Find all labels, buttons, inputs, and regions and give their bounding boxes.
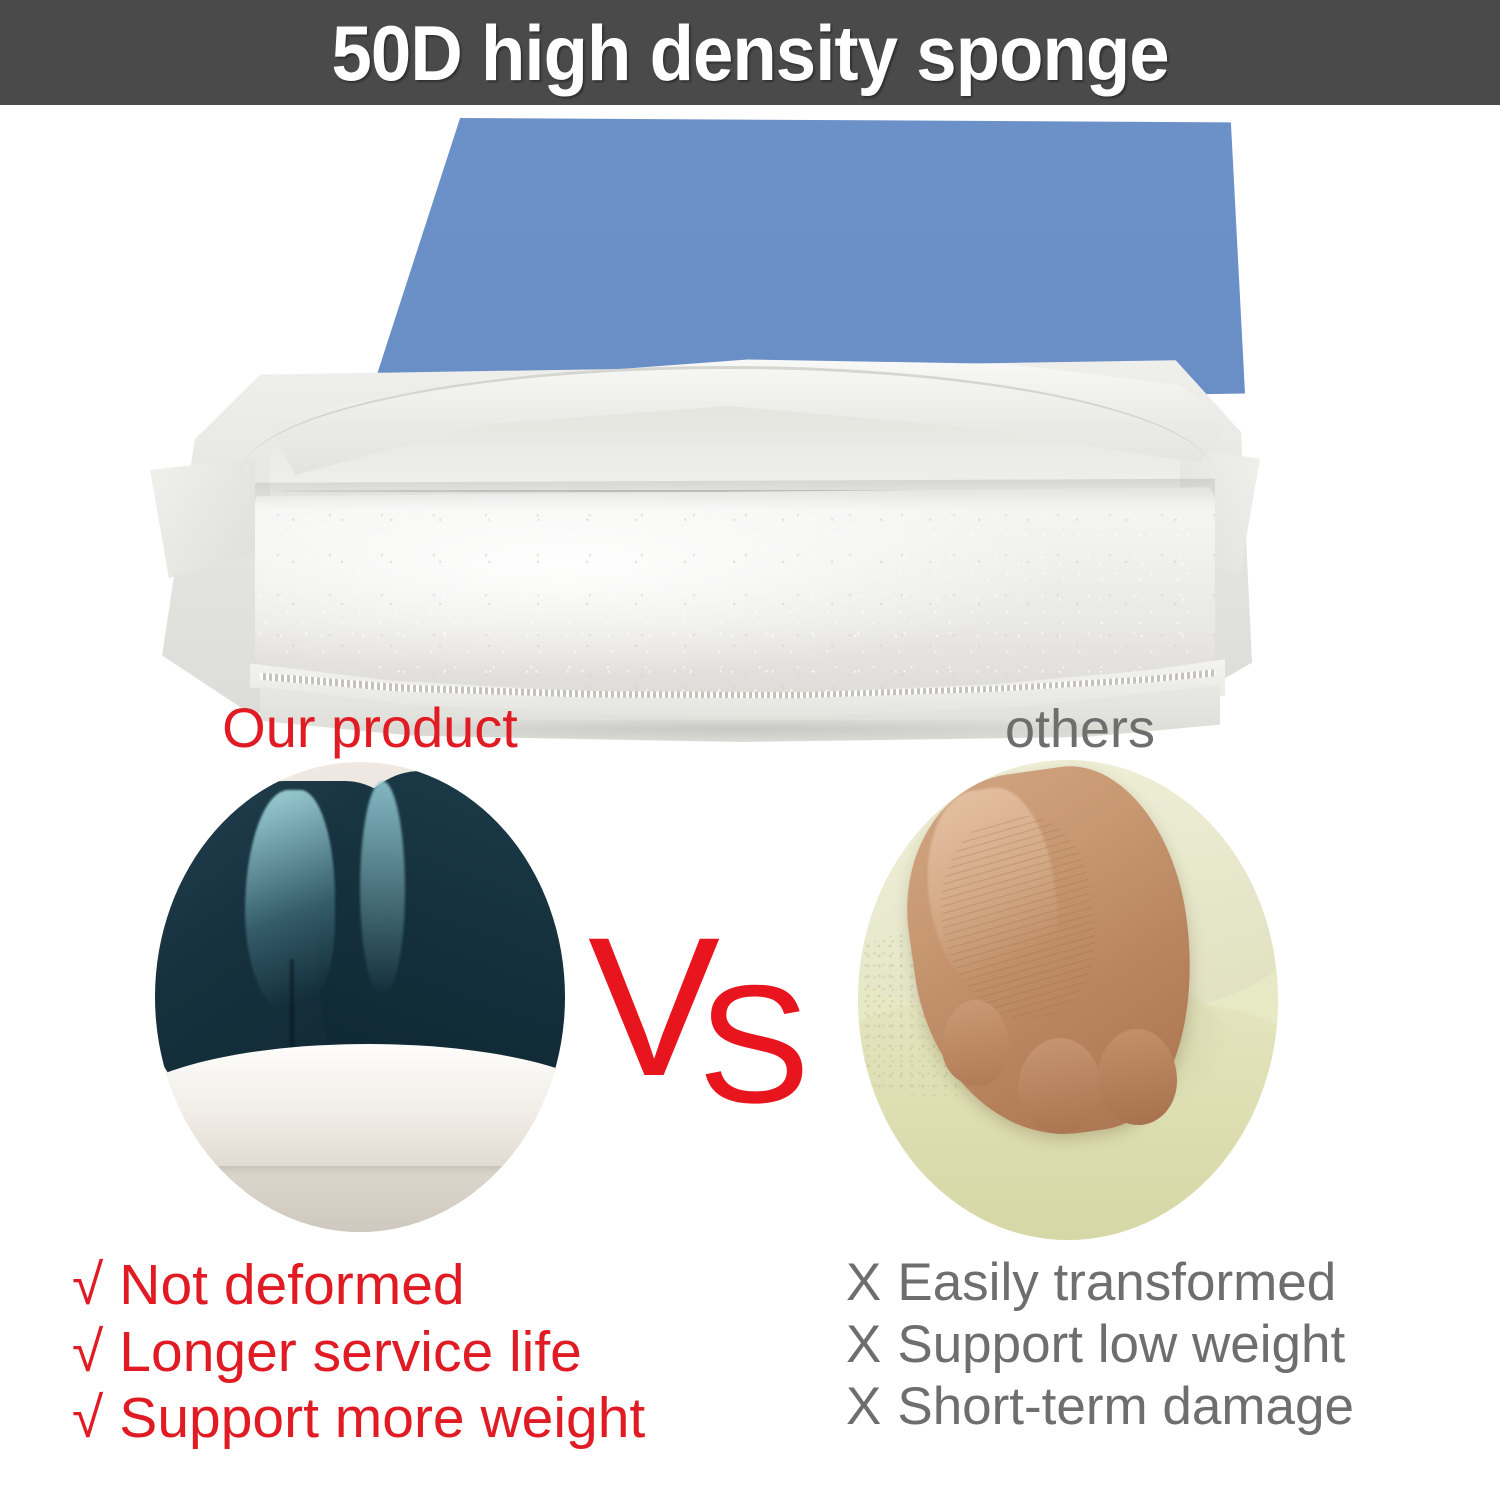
list-item-label: Support more weight bbox=[119, 1386, 645, 1450]
others-label: others bbox=[880, 702, 1280, 756]
list-item-label: Support low weight bbox=[897, 1315, 1345, 1374]
list-item: XShort-term damage bbox=[846, 1376, 1354, 1438]
infographic-page: 50D high density sponge Our product othe… bbox=[0, 0, 1500, 1500]
cross-icon: X bbox=[846, 1376, 881, 1438]
our-product-benefits: √Not deformed √Longer service life √Supp… bbox=[72, 1252, 645, 1452]
others-product-photo bbox=[858, 760, 1278, 1240]
list-item: √Longer service life bbox=[72, 1319, 645, 1386]
our-product-photo bbox=[155, 762, 565, 1232]
our-product-label: Our product bbox=[160, 700, 580, 756]
cross-icon: X bbox=[846, 1314, 881, 1376]
versus-letter-s: S bbox=[698, 960, 810, 1128]
list-item: XSupport low weight bbox=[846, 1314, 1354, 1376]
header-banner: 50D high density sponge bbox=[0, 0, 1500, 105]
fabric-fold-highlight bbox=[360, 781, 405, 997]
list-item: √Not deformed bbox=[72, 1252, 645, 1319]
product-cushion-photo bbox=[150, 108, 1260, 708]
check-icon: √ bbox=[72, 1319, 103, 1386]
versus-marker: V S bbox=[588, 908, 803, 1108]
list-item-label: Easily transformed bbox=[897, 1253, 1336, 1312]
list-item-label: Longer service life bbox=[119, 1320, 582, 1384]
list-item: √Support more weight bbox=[72, 1385, 645, 1452]
foam-texture bbox=[255, 508, 1215, 698]
list-item-label: Short-term damage bbox=[897, 1377, 1354, 1436]
hand-knuckle-3 bbox=[1097, 1029, 1177, 1125]
others-drawbacks: XEasily transformed XSupport low weight … bbox=[846, 1252, 1354, 1438]
page-title: 50D high density sponge bbox=[331, 14, 1168, 92]
list-item-label: Not deformed bbox=[119, 1253, 464, 1317]
cross-icon: X bbox=[846, 1252, 881, 1314]
check-icon: √ bbox=[72, 1252, 103, 1319]
check-icon: √ bbox=[72, 1385, 103, 1452]
hand-knuckle-2 bbox=[1018, 1038, 1102, 1134]
firm-cushion bbox=[155, 1044, 565, 1166]
list-item: XEasily transformed bbox=[846, 1252, 1354, 1314]
